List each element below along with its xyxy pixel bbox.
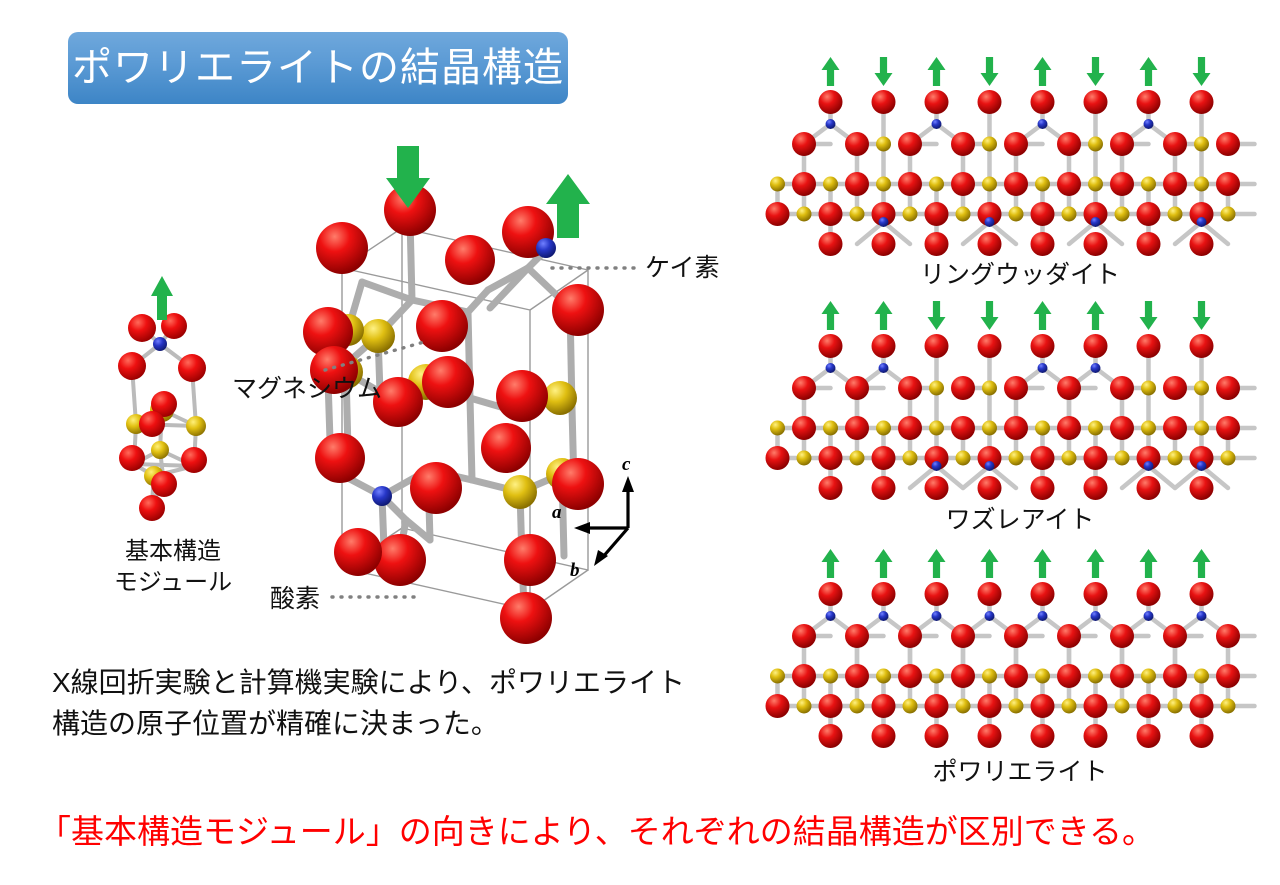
body-paragraph: X線回折実験と計算機実験により、ポワリエライト 構造の原子位置が精確に決まった。 [52,662,772,745]
layer-arrow-up-icon [822,549,840,578]
atom-oxygen [1110,664,1134,688]
atom-oxygen [898,624,922,648]
wadsleyite-svg [790,300,1250,490]
atom-oxygen [951,132,975,156]
atom-magnesium [982,381,997,396]
atom-oxygen [1031,476,1055,500]
atom-silicon [1038,611,1048,621]
atom-oxygen [845,172,869,196]
atom-oxygen [316,222,368,274]
atom-oxygen [819,724,843,748]
body-paragraph-line1: X線回折実験と計算機実験により、ポワリエライト [52,662,772,703]
atom-oxygen [1084,476,1108,500]
atom-magnesium [1168,699,1183,714]
atom-oxygen [925,232,949,256]
atom-oxygen [978,476,1002,500]
atom-oxygen [792,624,816,648]
atom-oxygen [819,694,843,718]
atom-oxygen [951,376,975,400]
atom-silicon [1197,217,1207,227]
atom-silicon [985,461,995,471]
atom-magnesium [823,177,838,192]
atom-magnesium [1141,177,1156,192]
atom-magnesium [1141,669,1156,684]
atom-magnesium [1141,381,1156,396]
atom-magnesium [797,699,812,714]
atom-magnesium [1009,207,1024,222]
atom-oxygen [181,447,207,473]
atom-oxygen [1057,664,1081,688]
atom-silicon [826,119,836,129]
atom-magnesium [1088,669,1103,684]
atom-oxygen [845,376,869,400]
atom-oxygen [1031,582,1055,606]
structure-caption-wadsleyite: ワズレアイト [790,500,1250,536]
atom-oxygen [1084,694,1108,718]
atom-magnesium [1194,381,1209,396]
poirierite-svg [790,548,1250,738]
atom-magnesium [1194,421,1209,436]
layer-arrow-up-icon [1087,301,1105,330]
atom-magnesium [876,669,891,684]
atom-magnesium [929,177,944,192]
atom-oxygen [1110,416,1134,440]
atom-magnesium [1115,207,1130,222]
atom-oxygen [1216,664,1240,688]
atom-oxygen [178,354,206,382]
atom-oxygen [1137,202,1161,226]
atom-oxygen [422,356,474,408]
atom-oxygen [925,334,949,358]
atom-oxygen [898,132,922,156]
atom-oxygen [792,376,816,400]
atom-oxygen [978,90,1002,114]
atom-oxygen [766,202,790,226]
structure-arrows [822,57,1211,86]
atom-oxygen [1004,172,1028,196]
layer-arrow-up-icon [822,57,840,86]
structure-figure-wadsleyite [790,300,1250,490]
layer-arrow-up-icon [1034,57,1052,86]
atom-magnesium [876,177,891,192]
atom-oxygen [1057,132,1081,156]
atom-silicon [1197,461,1207,471]
atom-oxygen [872,334,896,358]
atom-oxygen [792,132,816,156]
atom-oxygen [925,694,949,718]
atom-oxygen [1190,582,1214,606]
atom-oxygen [1163,172,1187,196]
atom-oxygen [118,352,146,380]
atom-oxygen [792,172,816,196]
structure-caption-poirierite: ポワリエライト [790,752,1250,788]
atom-oxygen [416,300,468,352]
atom-oxygen [1190,724,1214,748]
atom-silicon [879,611,889,621]
atom-oxygen [845,132,869,156]
atom-magnesium [503,475,537,509]
atom-oxygen [872,694,896,718]
atom-oxygen [925,90,949,114]
atom-oxygen [819,334,843,358]
atom-magnesium [903,207,918,222]
atom-oxygen [552,284,604,336]
atom-oxygen [819,90,843,114]
atom-oxygen [1163,624,1187,648]
atom-magnesium [982,421,997,436]
atom-magnesium [982,137,997,152]
atom-oxygen [1190,476,1214,500]
atom-magnesium [903,451,918,466]
atom-magnesium [1221,699,1236,714]
atom-oxygen [951,664,975,688]
atom-oxygen [1057,172,1081,196]
atom-silicon [932,461,942,471]
atom-oxygen [792,416,816,440]
atom-oxygen [819,202,843,226]
atom-magnesium [1035,177,1050,192]
atom-magnesium [1141,421,1156,436]
atom-magnesium [850,451,865,466]
atom-oxygen [315,433,365,483]
atom-silicon [879,363,889,373]
layer-arrow-up-icon [981,549,999,578]
atom-oxygen [1031,724,1055,748]
atom-silicon [1144,461,1154,471]
atom-oxygen [951,624,975,648]
atom-oxygen [496,370,548,422]
atom-silicon [985,217,995,227]
atom-oxygen [872,724,896,748]
atom-oxygen [1084,724,1108,748]
atom-silicon [826,611,836,621]
atom-magnesium [1062,207,1077,222]
atom-oxygen [500,592,552,644]
atom-magnesium [823,669,838,684]
atom-oxygen [925,476,949,500]
atom-oxygen [898,172,922,196]
atom-oxygen [1004,376,1028,400]
module-direction-arrow-up-icon [151,276,173,320]
atom-oxygen [845,664,869,688]
atom-oxygen [1031,694,1055,718]
atom-magnesium [850,699,865,714]
atom-silicon [372,486,392,506]
layer-arrow-up-icon [1034,549,1052,578]
atom-oxygen [951,172,975,196]
atom-oxygen [1057,624,1081,648]
atom-magnesium [1009,451,1024,466]
structure-arrows [822,301,1211,330]
atom-oxygen [1057,376,1081,400]
atom-magnesium [1194,669,1209,684]
atom-oxygen [1004,416,1028,440]
atom-magnesium [1009,699,1024,714]
atom-oxygen [978,232,1002,256]
atom-silicon [1038,119,1048,129]
atom-oxygen [1084,446,1108,470]
atom-magnesium [797,451,812,466]
atom-oxygen [1137,232,1161,256]
atom-oxygen [1137,334,1161,358]
atom-magnesium [1088,421,1103,436]
atom-magnesium [1194,177,1209,192]
layer-arrow-down-icon [875,57,893,86]
atom-oxygen [872,582,896,606]
atom-oxygen [128,314,156,342]
atom-oxygen [898,416,922,440]
atom-magnesium [1194,137,1209,152]
structure-atoms [766,582,1241,748]
atom-silicon [932,119,942,129]
slide-title-banner: ポワリエライトの結晶構造 [68,32,568,104]
axis-label-c: c [622,454,631,475]
layer-arrow-down-icon [981,301,999,330]
atom-magnesium [797,207,812,222]
atom-oxygen [1163,664,1187,688]
atom-oxygen [898,376,922,400]
atom-magnesium [956,451,971,466]
atom-oxygen [445,235,495,285]
atom-oxygen [334,528,382,576]
atom-magnesium [1221,207,1236,222]
atom-magnesium [929,381,944,396]
atom-silicon [1091,611,1101,621]
atom-oxygen [1190,694,1214,718]
atom-magnesium [1115,699,1130,714]
atom-oxygen [1084,582,1108,606]
atom-silicon [1091,217,1101,227]
atom-oxygen [792,664,816,688]
atom-oxygen [1216,132,1240,156]
atom-oxygen [872,232,896,256]
layer-arrow-up-icon [822,301,840,330]
atom-oxygen [978,694,1002,718]
atom-magnesium [929,669,944,684]
structure-figure-poirierite [790,548,1250,738]
atom-oxygen [766,446,790,470]
layer-arrow-down-icon [1193,301,1211,330]
layer-arrow-up-icon [1140,549,1158,578]
atom-oxygen [1031,232,1055,256]
atom-magnesium [1168,207,1183,222]
atom-magnesium [1168,451,1183,466]
layer-arrow-up-icon [875,301,893,330]
atom-oxygen [1031,334,1055,358]
atom-magnesium [770,177,785,192]
atom-oxygen [1216,376,1240,400]
atom-oxygen [1031,202,1055,226]
atom-silicon [1197,611,1207,621]
atom-oxygen [819,476,843,500]
atom-oxygen [845,416,869,440]
atom-oxygen [1216,416,1240,440]
callout-label-silicon: ケイ素 [645,252,720,285]
atom-silicon [1144,611,1154,621]
atom-magnesium [1035,421,1050,436]
atom-oxygen [1031,446,1055,470]
atom-oxygen [898,664,922,688]
module-caption-line2: モジュール [108,567,238,598]
atom-oxygen [1110,172,1134,196]
atom-oxygen [1004,664,1028,688]
layer-arrow-down-icon [1087,57,1105,86]
structure-figure-ringwoodite [790,56,1250,246]
axis-label-a: a [552,502,562,523]
atom-oxygen [925,202,949,226]
atom-oxygen [978,334,1002,358]
atom-magnesium [982,669,997,684]
atom-oxygen [139,495,165,521]
atom-magnesium [1062,451,1077,466]
atom-magnesium [361,319,395,353]
atom-oxygen [1137,582,1161,606]
atom-magnesium [823,421,838,436]
atom-magnesium [1062,699,1077,714]
layer-arrow-up-icon [1193,549,1211,578]
atom-oxygen [410,462,462,514]
atom-oxygen [504,534,556,586]
atom-silicon [1091,363,1101,373]
atom-oxygen [951,416,975,440]
atom-oxygen [481,423,531,473]
atom-oxygen [872,446,896,470]
atom-magnesium [1088,137,1103,152]
atom-oxygen [1004,132,1028,156]
atom-silicon [985,611,995,621]
atom-oxygen [978,724,1002,748]
callout-label-oxygen: 酸素 [270,583,320,616]
module-caption-line1: 基本構造 [108,536,238,567]
atom-oxygen [872,476,896,500]
atom-magnesium [151,441,169,459]
atom-oxygen [1163,376,1187,400]
layer-arrow-down-icon [1140,301,1158,330]
atom-magnesium [543,381,577,415]
atom-magnesium [1035,669,1050,684]
basic-structure-module-figure [118,278,248,528]
ringwoodite-svg [790,56,1250,246]
atom-magnesium [1115,451,1130,466]
atom-oxygen [1216,624,1240,648]
atom-magnesium [956,699,971,714]
atom-silicon [1144,119,1154,129]
atom-oxygen [1110,624,1134,648]
layer-arrow-up-icon [1034,301,1052,330]
atom-oxygen [119,445,145,471]
atom-oxygen [1137,476,1161,500]
body-paragraph-line2: 構造の原子位置が精確に決まった。 [52,703,772,744]
layer-arrow-down-icon [981,57,999,86]
layer-arrow-up-icon [1087,549,1105,578]
atom-magnesium [1088,177,1103,192]
atom-magnesium [876,421,891,436]
module-svg [118,278,248,528]
atom-oxygen [978,582,1002,606]
atom-oxygen [151,471,177,497]
atom-magnesium [1221,451,1236,466]
bottom-caption: 「基本構造モジュール」の向きにより、それぞれの結晶構造が区別できる。 [38,812,1253,852]
atom-oxygen [1004,624,1028,648]
layer-arrow-down-icon [928,301,946,330]
module-caption: 基本構造 モジュール [108,536,238,598]
atom-oxygen [1110,376,1134,400]
atom-oxygen [1031,90,1055,114]
atom-magnesium [850,207,865,222]
atom-oxygen [1110,132,1134,156]
atom-oxygen [1084,334,1108,358]
atom-magnesium [903,699,918,714]
atom-magnesium [956,207,971,222]
atom-magnesium [770,669,785,684]
atom-silicon [536,238,556,258]
atom-silicon [879,217,889,227]
atom-silicon [826,363,836,373]
page-title: ポワリエライトの結晶構造 [72,48,564,88]
layer-arrow-up-icon [1140,57,1158,86]
atom-oxygen [1137,90,1161,114]
atom-magnesium [770,421,785,436]
atom-oxygen [925,724,949,748]
layer-arrow-up-icon [875,549,893,578]
atom-oxygen [1137,724,1161,748]
atom-oxygen [819,582,843,606]
atom-oxygen [1057,416,1081,440]
atom-oxygen [1190,90,1214,114]
atom-silicon [932,611,942,621]
atom-magnesium [876,137,891,152]
structure-caption-ringwoodite: リングウッダイト [790,255,1250,291]
atom-oxygen [1190,334,1214,358]
atom-oxygen [845,624,869,648]
atom-magnesium [186,416,206,436]
atom-oxygen [819,446,843,470]
atom-oxygen [1084,232,1108,256]
atom-magnesium [929,421,944,436]
atom-oxygen [925,582,949,606]
atom-oxygen [139,411,165,437]
structure-arrows [822,549,1211,578]
callout-label-magnesium: マグネシウム [232,373,382,406]
atom-oxygen [819,232,843,256]
atom-oxygen [1216,172,1240,196]
atom-silicon [153,337,167,351]
atom-oxygen [872,90,896,114]
layer-arrow-up-icon [928,549,946,578]
atom-oxygen [1137,694,1161,718]
layer-arrow-up-icon [928,57,946,86]
atom-magnesium [982,177,997,192]
layer-arrow-down-icon [1193,57,1211,86]
axis-label-b: b [570,560,580,581]
atom-oxygen [1163,416,1187,440]
atom-oxygen [1084,90,1108,114]
atom-oxygen [1190,232,1214,256]
atom-oxygen [1163,132,1187,156]
atom-oxygen [374,534,426,586]
atom-silicon [1038,363,1048,373]
